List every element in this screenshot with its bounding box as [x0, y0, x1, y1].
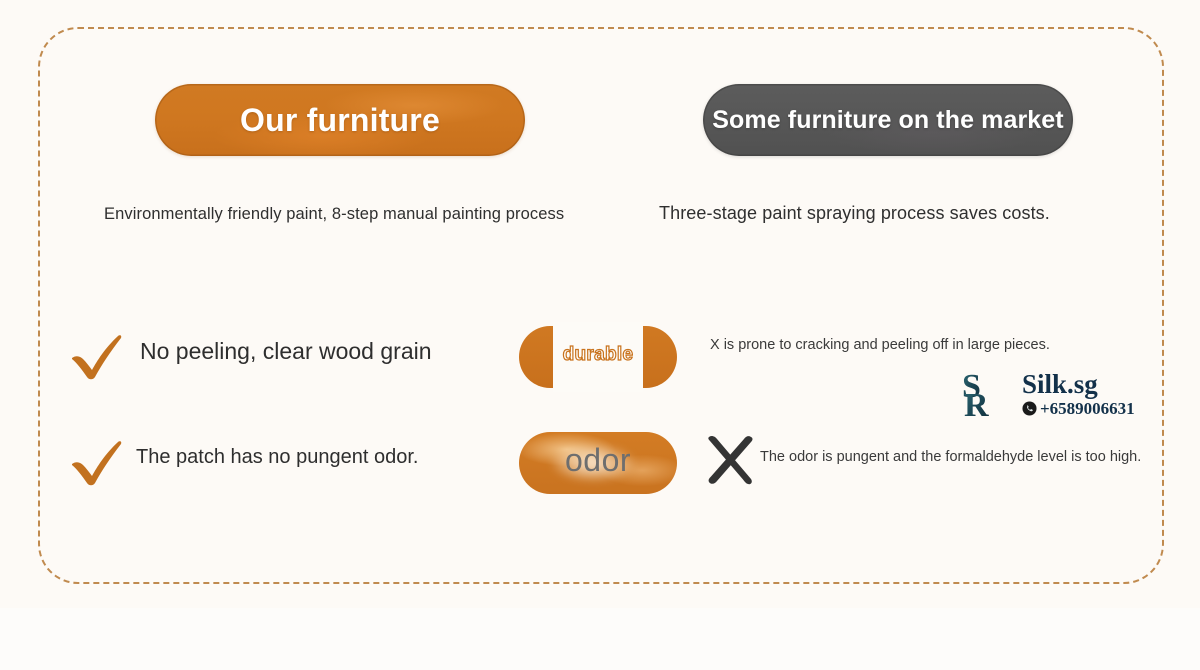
whatsapp-icon — [1022, 401, 1037, 416]
market-furniture-caption: Three-stage paint spraying process saves… — [659, 203, 1050, 224]
cross-icon — [702, 432, 758, 488]
negative-statement: X is prone to cracking and peeling off i… — [710, 337, 1050, 353]
watermark-brand: Silk.sg — [1022, 371, 1135, 398]
check-icon — [68, 328, 128, 382]
watermark-phone: +6589006631 — [1040, 400, 1135, 417]
check-icon — [68, 434, 128, 488]
comparison-row: The patch has no pungent odor. odor The … — [0, 428, 1200, 500]
silk-monogram-icon: S R — [962, 369, 1018, 419]
positive-statement: The patch has no pungent odor. — [136, 446, 418, 469]
odor-chip-label: odor — [519, 442, 677, 479]
bottom-strip — [0, 608, 1200, 670]
our-furniture-pill[interactable]: Our furniture — [155, 84, 525, 156]
watermark-text-block: Silk.sg +6589006631 — [1022, 371, 1135, 417]
durable-chip: durable — [519, 326, 677, 388]
watermark: S R Silk.sg +6589006631 — [962, 368, 1140, 420]
market-furniture-label: Some furniture on the market — [712, 106, 1063, 135]
durable-chip-label: durable — [519, 344, 677, 366]
odor-chip: odor — [519, 432, 677, 494]
negative-statement: The odor is pungent and the formaldehyde… — [760, 449, 1141, 465]
watermark-contact-row: +6589006631 — [1022, 400, 1135, 417]
market-furniture-pill[interactable]: Some furniture on the market — [703, 84, 1073, 156]
our-furniture-label: Our furniture — [240, 102, 440, 139]
svg-text:R: R — [964, 387, 989, 419]
positive-statement: No peeling, clear wood grain — [140, 338, 432, 365]
our-furniture-caption: Environmentally friendly paint, 8-step m… — [104, 205, 564, 224]
